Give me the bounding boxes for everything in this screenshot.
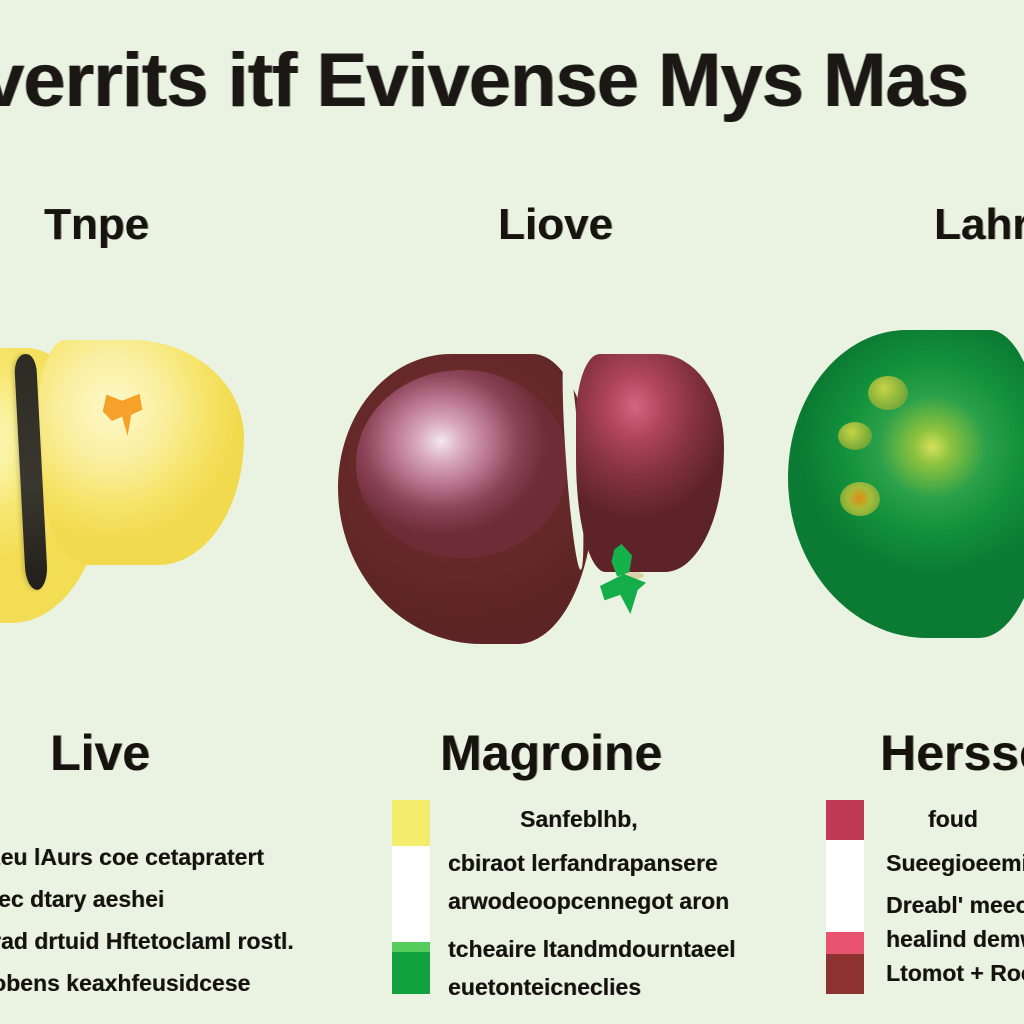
middle-column-title-line: Sanfeblhb, [520,798,638,840]
left-column-paragraph: &eu lAurs coe cetapratert nec dtary aesh… [0,836,264,920]
left-column-line: orad drtuid Hftetoclaml rostl. [0,920,294,962]
middle-column-line: euetonteicneclies [448,966,641,1008]
right-column-line: Sueegioeemie [886,842,1024,884]
left-column-line: oobens keaxhfeusidcese [0,962,294,1004]
legend-swatch-green [392,952,430,994]
column-label-liove: Liove [498,198,613,252]
maroon-liver-right-lobe [576,354,724,572]
legend-swatch-light-green [392,942,430,952]
yellow-liver-right-lobe [38,340,244,565]
green-leaf-icon [600,544,646,614]
infographic-canvas: verrits itf Evivense Mys Mas Tnpe Liove … [0,0,1024,1024]
green-liver-spot [838,422,872,450]
page-title: verrits itf Evivense Mys Mas [0,36,1024,126]
section-heading-hersse: Hersse [880,722,1024,784]
left-column-line: &eu lAurs coe cetapratert [0,836,264,878]
middle-column-line: cbiraot lerfandrapansere [448,842,718,884]
section-heading-magroine: Magroine [440,722,662,784]
legend-color-strip-middle [392,800,430,994]
green-liver-body [788,330,1024,638]
green-liver-lesion [840,482,880,516]
yellow-liver-illustration: 1 [0,340,250,640]
right-column-title-line: foud [928,798,978,840]
maroon-liver-illustration [338,338,710,650]
left-column-paragraph: orad drtuid Hftetoclaml rostl. oobens ke… [0,920,294,1004]
middle-column-line: arwodeoopcennegot aron [448,880,729,922]
column-label-type: Tnpe [44,198,149,252]
legend-swatch-pink [826,932,864,954]
illustration-row: 1 [0,320,1024,670]
section-heading-live: Live [50,722,150,784]
leaf-lower-blade [600,574,646,614]
middle-column-line: tcheaire ltandmdourntaeel [448,928,736,970]
legend-swatch-crimson [826,800,864,840]
legend-swatch-white [392,846,430,942]
legend-swatch-white [826,840,864,932]
legend-color-strip-right [826,800,864,994]
green-liver-spot [868,376,908,410]
legend-swatch-yellow [392,800,430,846]
legend-swatch-maroon [826,954,864,994]
maroon-liver-left-lobe [338,354,594,644]
left-column-line: nec dtary aeshei [0,878,264,920]
column-label-lahr: Lahr [934,198,1024,252]
right-column-line: Ltomot + Roee [886,952,1024,994]
green-liver-illustration [788,330,1024,648]
